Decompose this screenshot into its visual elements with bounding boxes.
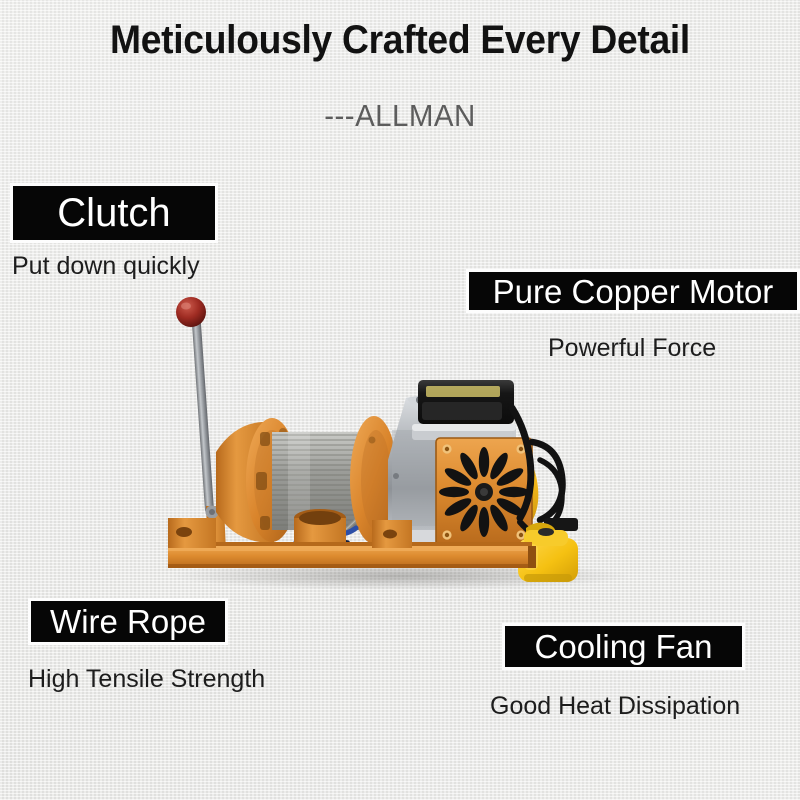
lever-knob <box>176 297 206 327</box>
callout-label-motor: Pure Copper Motor <box>493 275 774 308</box>
product-image <box>120 280 680 600</box>
page-title: Meticulously Crafted Every Detail <box>28 18 772 63</box>
callout-subtitle-wire-rope: High Tensile Strength <box>28 665 265 694</box>
junction-box <box>412 380 516 440</box>
callout-box-wire-rope[interactable]: Wire Rope <box>28 598 228 645</box>
callout-subtitle-motor: Powerful Force <box>548 334 716 363</box>
callout-subtitle-clutch: Put down quickly <box>12 252 200 281</box>
callout-box-cooling-fan[interactable]: Cooling Fan <box>502 623 745 670</box>
callout-subtitle-cooling-fan: Good Heat Dissipation <box>490 692 740 721</box>
fan-cover <box>436 438 532 546</box>
brand-name: ---ALLMAN <box>20 98 780 134</box>
callout-label-wire-rope: Wire Rope <box>50 605 206 638</box>
callout-box-clutch[interactable]: Clutch <box>10 183 218 243</box>
product-feature-poster: Meticulously Crafted Every Detail ---ALL… <box>0 0 800 800</box>
callout-label-clutch: Clutch <box>57 193 170 233</box>
callout-label-cooling-fan: Cooling Fan <box>535 630 713 663</box>
callout-box-motor[interactable]: Pure Copper Motor <box>466 269 800 313</box>
